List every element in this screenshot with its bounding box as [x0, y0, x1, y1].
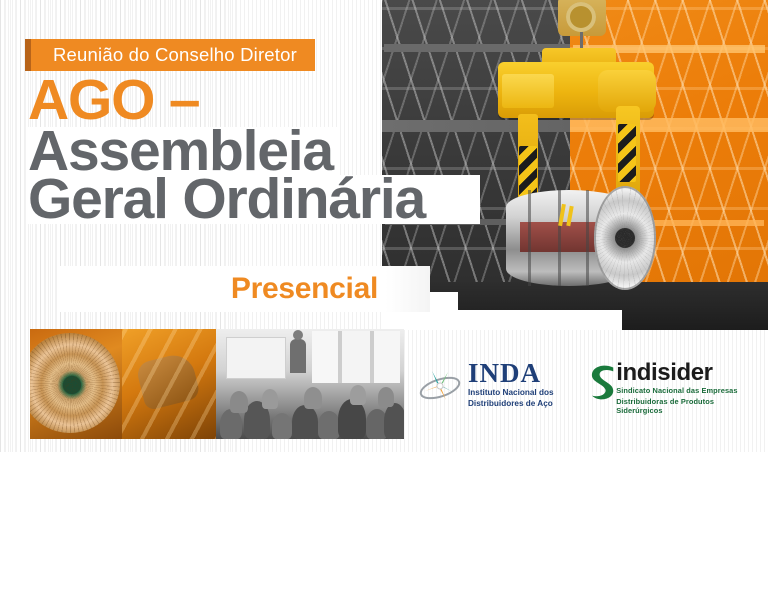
sindisider-s-icon: [590, 363, 615, 403]
audience-speaker-figure: [290, 339, 306, 373]
sindisider-subtitle-1: Sindicato Nacional das Empresas: [616, 386, 758, 396]
steel-coil-strap: [558, 190, 561, 286]
photo-conference-audience: [216, 329, 404, 439]
inda-logo-text: INDA Instituto Nacional dos Distribuidor…: [468, 360, 554, 409]
photo-steel-wire-coils: [30, 329, 122, 439]
steel-coil-red-band: [520, 222, 602, 252]
title-line-geral-wrap: Geral Ordinária: [28, 175, 480, 224]
steel-coil-strap: [528, 190, 531, 286]
steel-coil-strap: [586, 190, 589, 286]
inda-name: INDA: [468, 360, 554, 387]
sindisider-logo-text: indisider Sindicato Nacional das Empresa…: [616, 361, 758, 416]
photo-strip: [30, 329, 404, 439]
inda-atom-icon: [418, 364, 462, 406]
inda-subtitle-1: Instituto Nacional dos: [468, 388, 554, 398]
audience-heads: [216, 373, 404, 439]
event-poster: Reunião do Conselho Diretor AGO – Assemb…: [0, 0, 768, 606]
inda-logo: INDA Instituto Nacional dos Distribuidor…: [418, 360, 554, 409]
steel-coil: [506, 182, 656, 294]
sindisider-subtitle-2: Distribuidoras de Produtos Siderúrgicos: [616, 397, 758, 416]
crane-hook-block: [558, 0, 606, 36]
logo-row: INDA Instituto Nacional dos Distribuidor…: [418, 358, 758, 414]
meeting-type-badge-label: Reunião do Conselho Diretor: [53, 44, 297, 66]
meeting-type-badge: Reunião do Conselho Diretor: [31, 39, 315, 71]
title-line-geral-ordinaria: Geral Ordinária: [28, 175, 480, 224]
crane-assembly: [494, 0, 674, 296]
crane-beam-plate-left: [502, 74, 554, 108]
page-title: AGO – Assembleia Geral Ordinária: [28, 76, 498, 224]
attendance-mode-block: Presencial: [58, 266, 430, 312]
photo-gloved-hand-steel: [122, 329, 216, 439]
steel-coil-end-face: [594, 186, 656, 290]
event-info-bar: DATA, HORÁRIO LOCAL 17 de novembro de 20…: [0, 452, 768, 606]
sindisider-logo: indisider Sindicato Nacional das Empresa…: [590, 361, 758, 416]
hazard-stripe-right: [618, 124, 636, 182]
sindisider-name: indisider: [616, 361, 758, 385]
attendance-mode-label: Presencial: [231, 272, 378, 306]
title-line-ago: AGO –: [28, 76, 498, 125]
inda-subtitle-2: Distribuidores de Aço: [468, 399, 554, 409]
